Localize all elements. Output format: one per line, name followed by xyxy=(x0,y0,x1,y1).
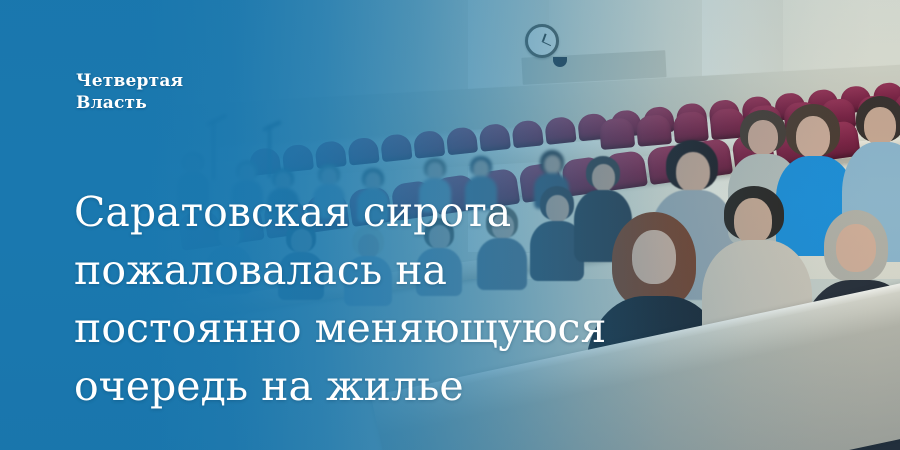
headline: Саратовская сирота пожаловалась на посто… xyxy=(74,183,714,415)
news-card: Четвертая Власть Саратовская сирота пожа… xyxy=(0,0,900,450)
logo-line-1: Четвертая xyxy=(76,70,183,92)
logo-line-2: Власть xyxy=(76,92,183,114)
card-content: Четвертая Власть Саратовская сирота пожа… xyxy=(0,0,900,450)
headline-line-3: постоянно меняющуюся xyxy=(74,299,714,357)
headline-line-2: пожаловалась на xyxy=(74,241,714,299)
site-logo[interactable]: Четвертая Власть xyxy=(76,70,183,114)
headline-line-4: очередь на жилье xyxy=(74,357,714,415)
headline-line-1: Саратовская сирота xyxy=(74,183,714,241)
